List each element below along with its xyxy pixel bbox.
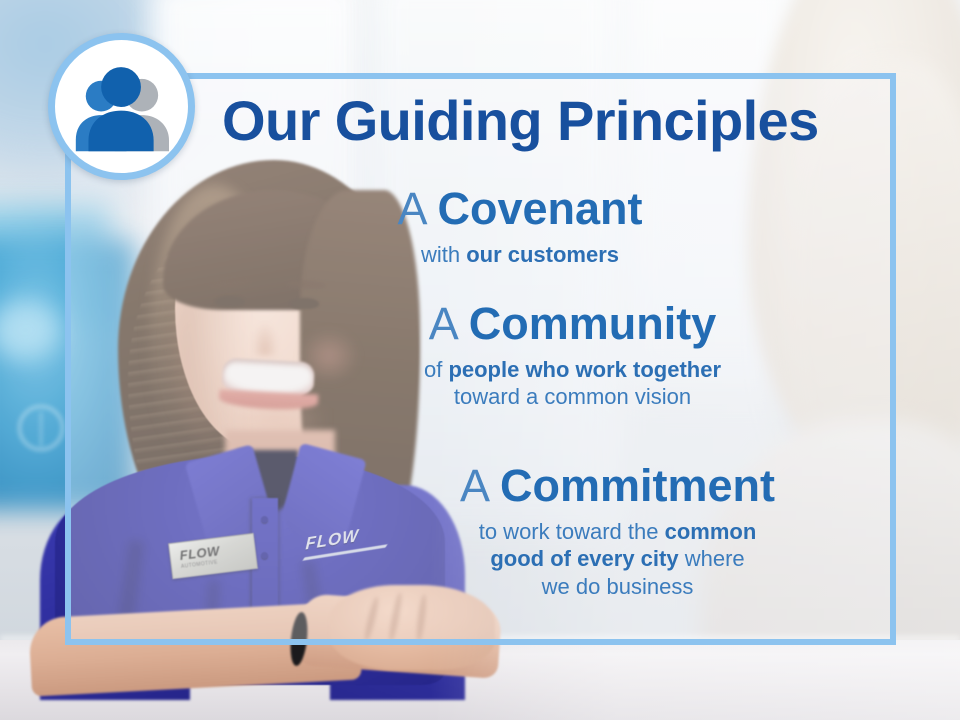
principle-article: A xyxy=(429,298,469,349)
principle-keyword: Covenant xyxy=(438,183,643,234)
principle-body: to work toward the common good of every … xyxy=(345,518,890,601)
body-text: to work toward the xyxy=(479,519,665,544)
principle-heading: A Community xyxy=(300,300,845,349)
principle-heading: A Commitment xyxy=(345,462,890,511)
principle-community: A Community of people who work together … xyxy=(300,300,845,411)
body-text: of xyxy=(424,357,448,382)
body-text: we do business xyxy=(542,574,694,599)
polo-button-top xyxy=(261,516,268,523)
blurred-blue-vehicle xyxy=(0,240,135,510)
principle-covenant: A Covenant with our customers xyxy=(250,185,790,268)
body-text-bold: our customers xyxy=(466,242,619,267)
body-text: with xyxy=(421,242,466,267)
graphic-canvas: FLOW FLOW AUTOMOTIVE xyxy=(0,0,960,720)
principle-body-line: of people who work together xyxy=(300,356,845,384)
principle-keyword: Community xyxy=(469,298,717,349)
people-group-icon xyxy=(55,40,188,173)
people-badge xyxy=(48,33,195,180)
page-title: Our Guiding Principles xyxy=(222,92,862,149)
principle-body: with our customers xyxy=(250,241,790,269)
associate-nose xyxy=(252,322,278,356)
principle-body-line: with our customers xyxy=(250,241,790,269)
associate-eye-left xyxy=(215,296,245,307)
principle-body-line: toward a common vision xyxy=(300,383,845,411)
principle-article: A xyxy=(397,183,437,234)
principle-keyword: Commitment xyxy=(500,460,775,511)
principle-heading: A Covenant xyxy=(250,185,790,234)
principle-article: A xyxy=(460,460,500,511)
principle-commitment: A Commitment to work toward the common g… xyxy=(345,462,890,601)
vehicle-emblem-icon xyxy=(18,405,64,451)
body-text-bold: good of every city xyxy=(490,546,678,571)
polo-button-bottom xyxy=(261,552,268,559)
body-text-bold: common xyxy=(665,519,757,544)
principle-body-line: good of every city where xyxy=(345,545,890,573)
body-text: where xyxy=(679,546,745,571)
principle-body-line: we do business xyxy=(345,573,890,601)
body-text-bold: people who work together xyxy=(448,357,721,382)
principle-body: of people who work together toward a com… xyxy=(300,356,845,411)
body-text: toward a common vision xyxy=(454,384,691,409)
principle-body-line: to work toward the common xyxy=(345,518,890,546)
